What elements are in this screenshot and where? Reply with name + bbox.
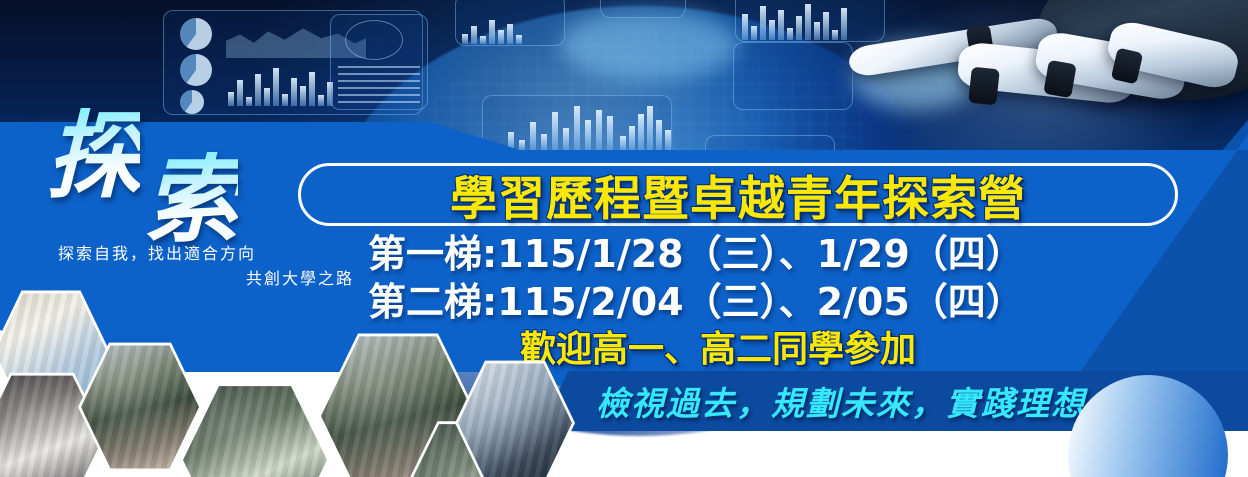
hud-bars-1 (228, 66, 333, 106)
session-dates: 第一梯:115/1/28（三）、1/29（四） 第二梯:115/2/04（三）、… (368, 231, 1168, 326)
hud-bars-pyramid (620, 104, 671, 150)
hud-panel-cloud (600, 0, 686, 18)
main-title-pill: 學習歷程暨卓越青年探索營 (298, 163, 1178, 226)
hud-pie-1 (180, 18, 212, 50)
robot-knuckle-middle (968, 67, 1000, 106)
session-date-1: 第一梯:115/1/28（三）、1/29（四） (368, 231, 1168, 279)
hud-text-lines-1 (338, 66, 420, 106)
session-date-2: 第二梯:115/2/04（三）、2/05（四） (368, 279, 1168, 327)
hud-ring-1 (345, 20, 403, 60)
main-title-text: 學習歷程暨卓越青年探索營 (450, 160, 1026, 229)
photo-hex-projector-image (183, 383, 327, 477)
welcome-text: 歡迎高一、高二同學參加 (368, 320, 1068, 372)
hud-pie-2 (180, 54, 212, 86)
promo-banner: 探 索 探索自我，找出適合方向 共創大學之路 學習歷程暨卓越青年探索營 第一梯:… (0, 0, 1248, 477)
hud-pie-3 (180, 90, 204, 114)
hud-bars-main (508, 104, 613, 150)
tagline-text: 檢視過去，規劃未來，實踐理想 (596, 377, 1086, 425)
photo-hex-projector (180, 380, 330, 477)
hud-bars-topcenter (462, 18, 522, 44)
subtitle-line-1: 探索自我，找出適合方向 (58, 242, 358, 267)
robot-knuckle-ring (1043, 60, 1076, 98)
subtitle-block: 探索自我，找出適合方向 共創大學之路 (58, 242, 358, 292)
subtitle-line-2: 共創大學之路 (58, 267, 358, 292)
